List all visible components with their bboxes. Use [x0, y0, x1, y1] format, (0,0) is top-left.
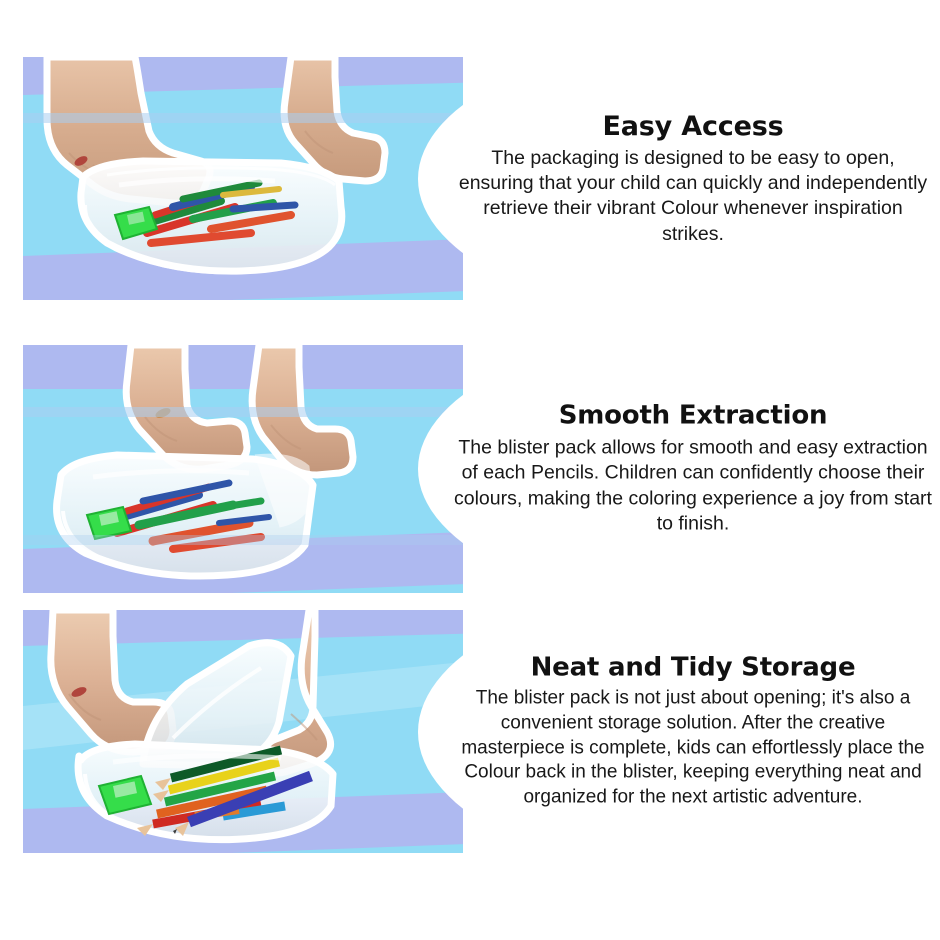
product-photo-easy-access: [23, 57, 463, 300]
feature-body: The packaging is designed to be easy to …: [453, 145, 933, 246]
photo-horizon-line-lower: [23, 535, 463, 545]
product-photo-smooth-extraction: [23, 345, 463, 593]
feature-block-easy-access: Easy Access The packaging is designed to…: [23, 57, 917, 300]
feature-copy-smooth-extraction: Smooth Extraction The blister pack allow…: [453, 401, 933, 536]
blister-pack-illustration-1: [23, 57, 463, 300]
product-feature-infographic: Easy Access The packaging is designed to…: [0, 0, 940, 940]
feature-body: The blister pack is not just about openi…: [453, 687, 933, 810]
feature-heading: Neat and Tidy Storage: [453, 653, 933, 683]
feature-block-neat-and-tidy-storage: Neat and Tidy Storage The blister pack i…: [23, 610, 917, 853]
product-photo-neat-and-tidy-storage: [23, 610, 463, 853]
feature-body: The blister pack allows for smooth and e…: [453, 435, 933, 536]
blister-pack-illustration-3: [23, 610, 463, 853]
feature-heading: Smooth Extraction: [453, 401, 933, 431]
photo-horizon-line: [23, 407, 463, 417]
photo-horizon-line: [23, 113, 463, 123]
feature-block-smooth-extraction: Smooth Extraction The blister pack allow…: [23, 345, 917, 593]
blister-pack-illustration-2: [23, 345, 463, 593]
feature-copy-easy-access: Easy Access The packaging is designed to…: [453, 110, 933, 246]
feature-copy-neat-and-tidy-storage: Neat and Tidy Storage The blister pack i…: [453, 653, 933, 810]
feature-heading: Easy Access: [453, 110, 933, 141]
